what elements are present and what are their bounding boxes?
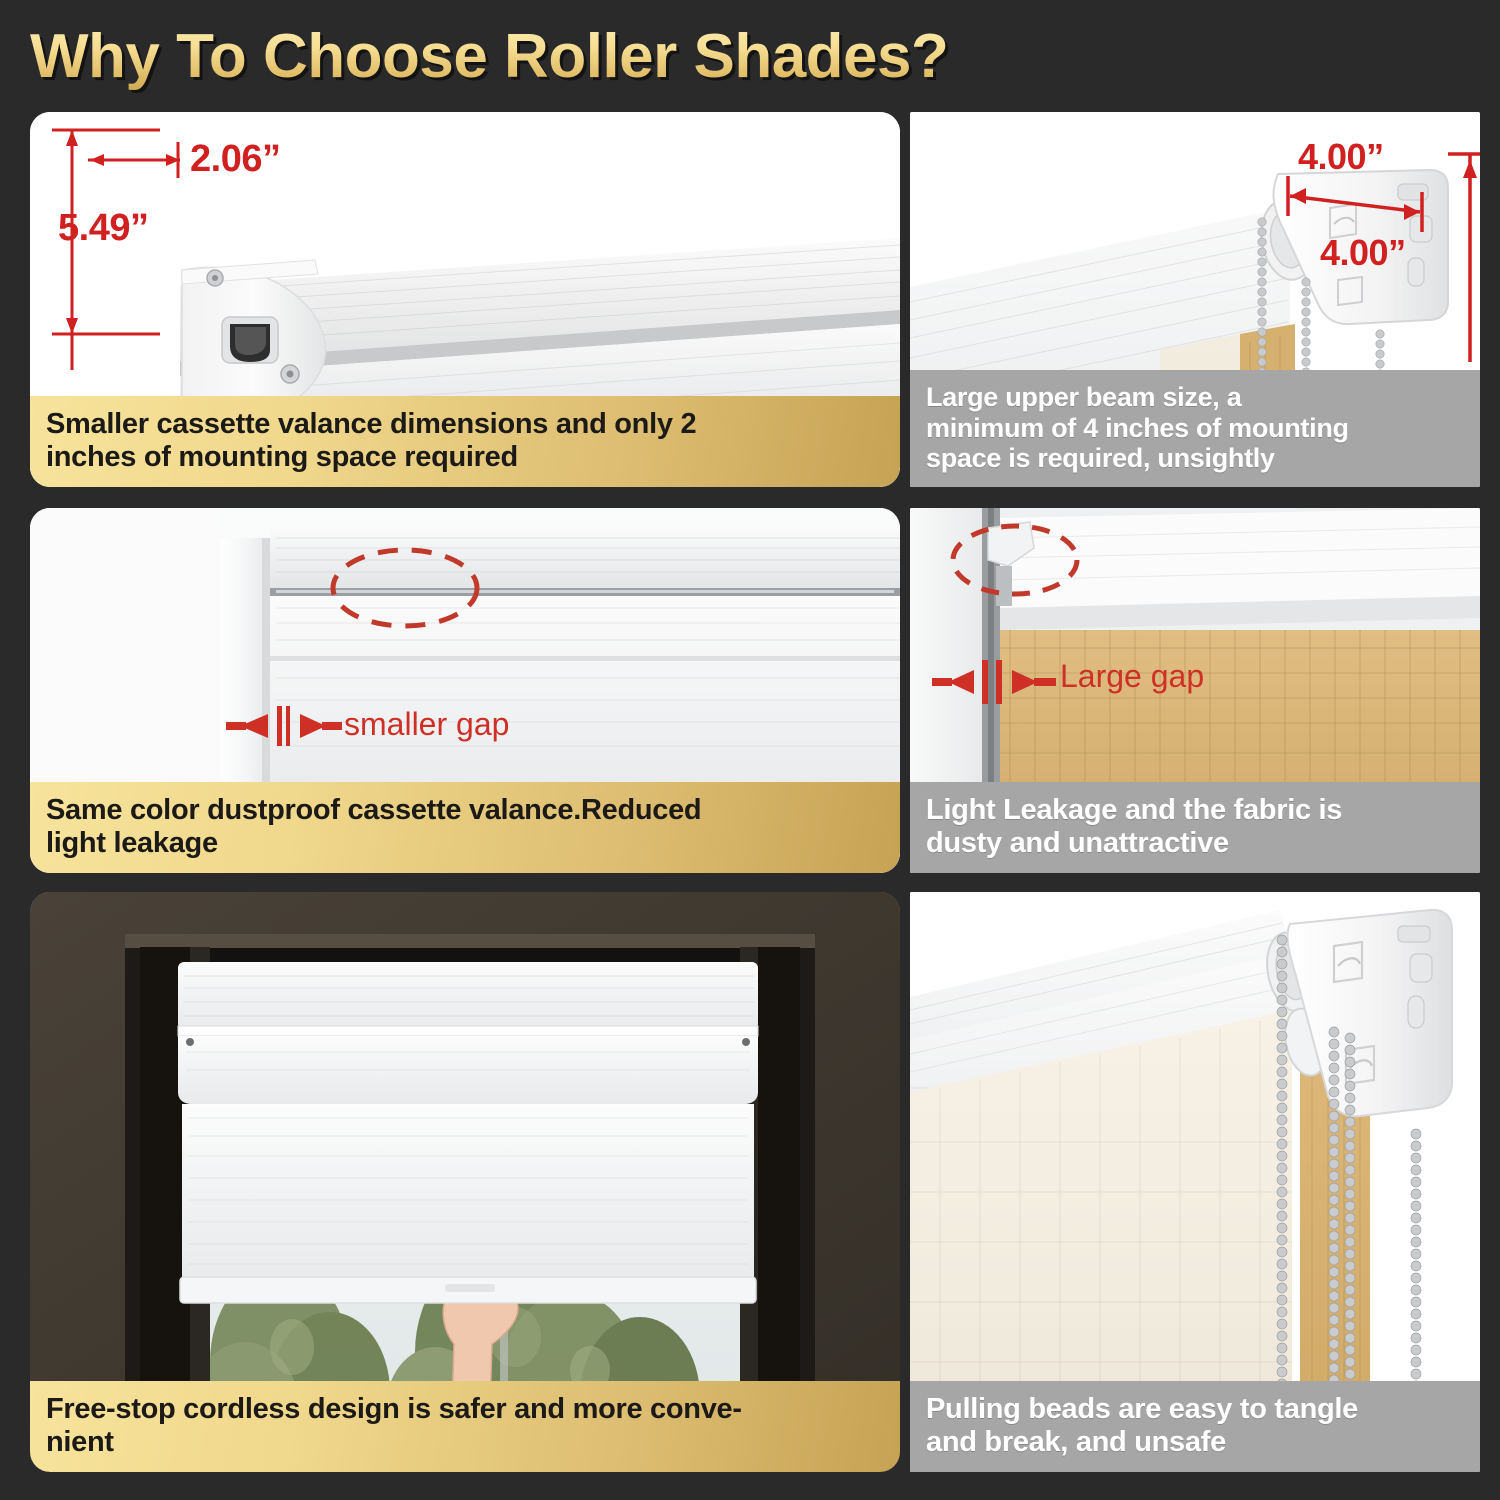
caption-line: Same color dustproof cassette valance.Re… (46, 794, 884, 826)
caption-free-stop-cordless-design: Free-stop cordless design is safer and m… (30, 1381, 900, 1472)
caption-line: inches of mounting space required (46, 441, 884, 473)
caption-large-upper-beam: Large upper beam size, a minimum of 4 in… (910, 370, 1480, 487)
gap-highlight-ellipse (333, 550, 477, 626)
panel-cassette-valance-dimensions: 2.06” 5.49” Smaller cassette valance dim… (30, 112, 900, 487)
caption-light-leakage-dusty-fabric: Light Leakage and the fabric is dusty an… (910, 782, 1480, 873)
dimension-label-width: 2.06” (190, 138, 280, 181)
gap-label-large: Large gap (1060, 658, 1204, 695)
caption-line: light leakage (46, 827, 884, 859)
gap-highlight-ellipse (953, 526, 1077, 594)
caption-line: Free-stop cordless design is safer and m… (46, 1393, 884, 1425)
caption-cassette-valance-dimensions: Smaller cassette valance dimensions and … (30, 396, 900, 487)
caption-dustproof-cassette-valance: Same color dustproof cassette valance.Re… (30, 782, 900, 873)
panel-free-stop-cordless-design: Free-stop cordless design is safer and m… (30, 892, 900, 1472)
caption-line: Pulling beads are easy to tangle (926, 1393, 1464, 1425)
panel-light-leakage-dusty-fabric: Large gap Light Leakage and the fabric i… (910, 508, 1480, 873)
page-title: Why To Choose Roller Shades? (30, 18, 1130, 96)
caption-line: and break, and unsafe (926, 1426, 1464, 1458)
dimension-label-height: 5.49” (58, 207, 148, 250)
caption-line: space is required, unsightly (926, 443, 1464, 473)
caption-line: Light Leakage and the fabric is (926, 794, 1464, 826)
gap-label-smaller: smaller gap (344, 706, 509, 743)
dimension-label-beam-height: 4.00” (1320, 232, 1406, 274)
panel-dustproof-cassette-valance: smaller gap Same color dustproof cassett… (30, 508, 900, 873)
caption-line: nient (46, 1426, 884, 1458)
dimension-label-beam-width: 4.00” (1298, 136, 1384, 178)
panel-pulling-beads-tangle: Pulling beads are easy to tangle and bre… (910, 892, 1480, 1472)
caption-pulling-beads-tangle: Pulling beads are easy to tangle and bre… (910, 1381, 1480, 1472)
caption-line: dusty and unattractive (926, 827, 1464, 859)
caption-line: Large upper beam size, a (926, 382, 1464, 412)
caption-line: Smaller cassette valance dimensions and … (46, 408, 884, 440)
panel-large-upper-beam: 4.00” 4.00” Large upper beam size, a min… (910, 112, 1480, 487)
caption-line: minimum of 4 inches of mounting (926, 413, 1464, 443)
